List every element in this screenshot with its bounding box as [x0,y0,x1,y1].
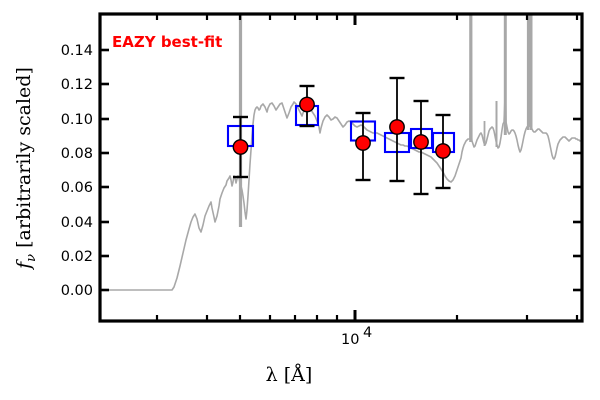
y-tick-label: 0.14 [61,43,93,59]
data-point [390,120,404,134]
plot-background [100,14,582,321]
annotation-eazy-best-fit: EAZY best-fit [112,33,222,51]
x-tick-label-exponent: 4 [363,325,372,341]
y-axis-label-subscript: ν [24,254,39,262]
y-tick-label: 0.02 [61,249,93,265]
sed-plot-figure: EAZY best-fit [0,0,600,400]
x-tick-label-mantissa: 10 [341,332,359,348]
data-point [356,136,370,150]
x-axis-tick-labels: 10 4 [341,325,372,348]
plot-canvas: EAZY best-fit [0,0,600,400]
x-axis-label: λ [Å] [266,364,313,386]
x-axis-label-text: λ [Å] [266,364,313,386]
y-tick-label: 0.12 [61,77,93,93]
y-tick-label: 0.04 [61,215,93,231]
data-point [436,144,450,158]
y-tick-label: 0.10 [61,112,93,128]
y-axis-tick-labels: 0.14 0.12 0.10 0.08 0.06 0.04 0.02 0.00 [61,43,93,299]
y-tick-label: 0.06 [61,180,93,196]
y-axis-label-rest: [arbitrarily scaled] [13,67,35,254]
data-point [233,140,247,154]
y-axis-label: fν [arbitrarily scaled] [13,67,39,271]
data-point [300,97,314,111]
svg-text:fν [arbitrarily scaled]: fν [arbitrarily scaled] [13,67,39,271]
y-tick-label: 0.00 [61,283,93,299]
y-tick-label: 0.08 [61,146,93,162]
data-point [414,135,428,149]
